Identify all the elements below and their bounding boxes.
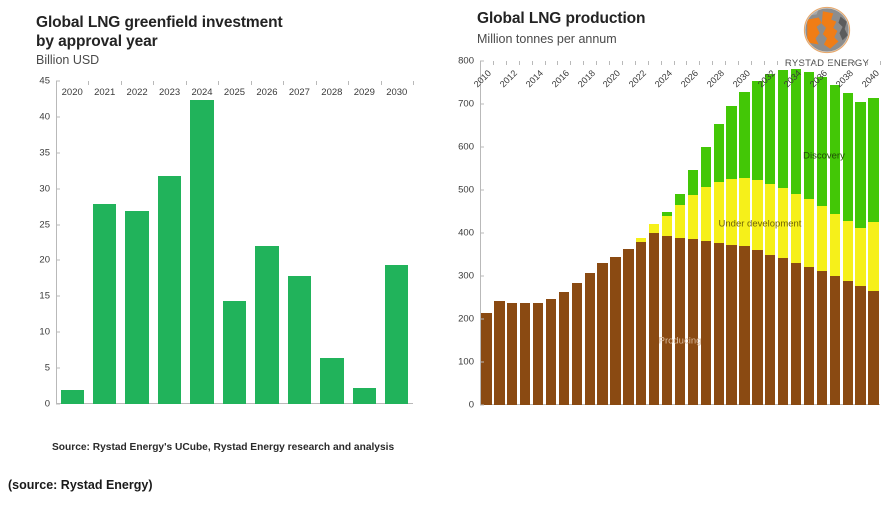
x-axis-tick-label: 2028 — [321, 87, 342, 98]
globe-icon — [801, 4, 853, 56]
x-axis-tick-label: 2021 — [94, 87, 115, 98]
x-axis-tick-mark — [751, 61, 752, 65]
x-axis-tick-mark — [674, 61, 675, 65]
left-chart-title: Global LNG greenfield investment by appr… — [36, 14, 366, 52]
x-axis-tick-label: 2025 — [224, 87, 245, 98]
segment-producing — [546, 299, 556, 405]
y-axis-tick-label: 25 — [39, 219, 56, 230]
x-axis-tick-mark — [712, 61, 713, 65]
segment-under-development — [739, 178, 749, 247]
segment-producing — [855, 286, 865, 405]
page-caption: (source: Rystad Energy) — [8, 478, 152, 492]
y-axis-tick-label: 35 — [39, 147, 56, 158]
x-axis-tick-mark — [803, 61, 804, 65]
segment-producing — [817, 271, 827, 405]
y-axis-tick-mark — [480, 405, 484, 406]
segment-under-development — [662, 216, 672, 237]
segment-discovery — [791, 69, 801, 194]
segment-under-development — [817, 206, 827, 271]
stacked-bar-2034[interactable] — [791, 61, 801, 405]
x-axis-tick-mark — [777, 61, 778, 65]
left-chart-panel: Global LNG greenfield investment by appr… — [0, 0, 455, 440]
segment-discovery — [714, 124, 724, 182]
segment-producing — [765, 255, 775, 406]
x-axis-tick-mark — [764, 61, 765, 65]
y-axis-tick-label: 45 — [39, 76, 56, 87]
y-axis-tick-label: 40 — [39, 111, 56, 122]
x-axis-tick-mark — [854, 61, 855, 65]
y-axis-tick-mark — [56, 296, 60, 297]
segment-producing — [739, 246, 749, 405]
bar-2023[interactable] — [158, 176, 181, 404]
stacked-bar-2020[interactable] — [610, 61, 620, 405]
x-axis-tick-mark — [153, 81, 154, 85]
x-axis-tick-mark — [316, 81, 317, 85]
right-plot-area: Producing Under development Discovery 01… — [480, 61, 880, 405]
segment-producing — [675, 238, 685, 405]
x-axis-tick-label: 2022 — [127, 87, 148, 98]
x-axis-tick-label: 2026 — [256, 87, 277, 98]
left-plot-area: 0510152025303540452020202120222023202420… — [56, 81, 413, 404]
segment-producing — [830, 276, 840, 405]
stacked-bar-2015[interactable] — [546, 61, 556, 405]
x-axis-tick-mark — [251, 81, 252, 85]
y-axis-tick-label: 10 — [39, 327, 56, 338]
segment-producing — [533, 303, 543, 405]
y-axis-tick-label: 200 — [458, 314, 480, 325]
stacked-bar-2036[interactable] — [817, 61, 827, 405]
segment-under-development — [636, 238, 646, 241]
y-axis-tick-label: 500 — [458, 185, 480, 196]
y-axis-tick-mark — [480, 362, 484, 363]
stacked-bar-2037[interactable] — [830, 61, 840, 405]
segment-under-development — [778, 188, 788, 258]
segment-discovery — [843, 93, 853, 220]
x-axis-tick-label: 2029 — [354, 87, 375, 98]
left-chart-subtitle: Billion USD — [36, 53, 99, 68]
segment-producing — [572, 283, 582, 405]
bar-2025[interactable] — [223, 301, 246, 404]
stacked-bar-2019[interactable] — [597, 61, 607, 405]
x-axis-tick-mark — [519, 61, 520, 65]
stacked-bar-2013[interactable] — [520, 61, 530, 405]
segment-under-development — [701, 187, 711, 241]
x-axis-tick-mark — [841, 61, 842, 65]
x-axis-tick-mark — [557, 61, 558, 65]
right-chart-panel: Global LNG production Million tonnes per… — [455, 0, 889, 450]
stacked-bar-2012[interactable] — [507, 61, 517, 405]
x-axis-tick-mark — [583, 61, 584, 65]
segment-producing — [520, 303, 530, 405]
segment-discovery — [752, 81, 762, 180]
y-axis-tick-label: 100 — [458, 357, 480, 368]
x-axis-tick-mark — [880, 61, 881, 65]
segment-discovery — [804, 72, 814, 199]
bar-2022[interactable] — [125, 211, 148, 404]
segment-under-development — [649, 224, 659, 233]
stacked-bar-2022[interactable] — [636, 61, 646, 405]
segment-under-development — [830, 214, 840, 276]
segment-under-development — [843, 221, 853, 281]
right-chart-subtitle: Million tonnes per annum — [477, 32, 617, 47]
segment-producing — [804, 267, 814, 405]
stacked-bar-2011[interactable] — [494, 61, 504, 405]
segment-discovery — [868, 98, 878, 222]
y-axis-tick-label: 0 — [45, 399, 56, 410]
rystad-energy-logo: RYSTAD ENERGY — [781, 4, 873, 69]
segment-under-development — [714, 182, 724, 243]
right-chart-title: Global LNG production — [477, 10, 645, 29]
y-axis-tick-mark — [56, 224, 60, 225]
segment-discovery — [830, 85, 840, 214]
x-axis-tick-mark — [635, 61, 636, 65]
y-axis-tick-label: 5 — [45, 363, 56, 374]
bar-2021[interactable] — [93, 204, 116, 404]
stacked-bar-2031[interactable] — [752, 61, 762, 405]
stacked-bar-2018[interactable] — [585, 61, 595, 405]
stacked-bar-2017[interactable] — [572, 61, 582, 405]
x-axis-tick-mark — [609, 61, 610, 65]
segment-producing — [623, 249, 633, 405]
x-axis-tick-mark — [815, 61, 816, 65]
segment-producing — [778, 258, 788, 405]
stacked-bar-2038[interactable] — [843, 61, 853, 405]
x-axis-tick-label: 2020 — [62, 87, 83, 98]
y-axis-tick-label: 0 — [469, 400, 480, 411]
left-bar-group — [56, 81, 413, 404]
segment-producing — [585, 273, 595, 405]
segment-producing — [726, 245, 736, 405]
stacked-bar-2014[interactable] — [533, 61, 543, 405]
segment-producing — [636, 242, 646, 405]
y-axis-tick-label: 15 — [39, 291, 56, 302]
x-axis-tick-mark — [56, 81, 57, 85]
segment-producing — [868, 291, 878, 405]
bar-2027[interactable] — [288, 276, 311, 404]
segment-under-development — [868, 222, 878, 291]
x-axis-tick-label: 2030 — [386, 87, 407, 98]
bar-2030[interactable] — [385, 265, 408, 404]
x-axis-tick-mark — [867, 61, 868, 65]
stacked-bar-2023[interactable] — [649, 61, 659, 405]
y-axis-tick-label: 300 — [458, 271, 480, 282]
x-axis-tick-mark — [790, 61, 791, 65]
bar-2026[interactable] — [255, 246, 278, 404]
x-axis-tick-label: 2024 — [191, 87, 212, 98]
stacked-bar-2029[interactable] — [726, 61, 736, 405]
segment-producing — [714, 243, 724, 405]
segment-discovery — [739, 92, 749, 178]
source-note: Source: Rystad Energy's UCube, Rystad En… — [52, 442, 394, 453]
x-axis-tick-mark — [686, 61, 687, 65]
x-axis-tick-mark — [532, 61, 533, 65]
y-axis-tick-label: 800 — [458, 56, 480, 67]
segment-producing — [597, 263, 607, 405]
segment-under-development — [791, 194, 801, 263]
y-axis-tick-mark — [480, 276, 484, 277]
x-axis-tick-mark — [738, 61, 739, 65]
x-axis-tick-label: 2023 — [159, 87, 180, 98]
x-axis-tick-mark — [648, 61, 649, 65]
y-axis-tick-mark — [480, 319, 484, 320]
x-axis-tick-mark — [480, 61, 481, 65]
segment-discovery — [701, 147, 711, 188]
stacked-bar-2030[interactable] — [739, 61, 749, 405]
x-axis-tick-mark — [545, 61, 546, 65]
x-axis-tick-mark — [283, 81, 284, 85]
segment-producing — [649, 233, 659, 405]
x-axis-tick-label: 2027 — [289, 87, 310, 98]
segment-under-development — [752, 180, 762, 250]
stacked-bar-2016[interactable] — [559, 61, 569, 405]
stacked-bar-2021[interactable] — [623, 61, 633, 405]
segment-under-development — [765, 184, 775, 255]
x-axis-tick-mark — [725, 61, 726, 65]
x-axis-tick-mark — [493, 61, 494, 65]
y-axis-tick-label: 30 — [39, 183, 56, 194]
stacked-bar-2025[interactable] — [675, 61, 685, 405]
stacked-bar-2033[interactable] — [778, 61, 788, 405]
segment-discovery — [688, 170, 698, 195]
y-axis-tick-label: 600 — [458, 142, 480, 153]
bar-2020[interactable] — [61, 390, 84, 404]
chart-page: Global LNG greenfield investment by appr… — [0, 0, 889, 505]
segment-under-development — [855, 228, 865, 286]
segment-producing — [662, 236, 672, 405]
segment-producing — [481, 313, 491, 405]
x-axis-tick-mark — [699, 61, 700, 65]
bar-2024[interactable] — [190, 100, 213, 404]
right-bar-group — [480, 61, 880, 405]
stacked-bar-2024[interactable] — [662, 61, 672, 405]
segment-discovery — [662, 212, 672, 215]
stacked-bar-2040[interactable] — [868, 61, 878, 405]
segment-producing — [507, 303, 517, 405]
y-axis-tick-mark — [56, 332, 60, 333]
x-axis-tick-mark — [661, 61, 662, 65]
stacked-bar-2032[interactable] — [765, 61, 775, 405]
segment-under-development — [688, 195, 698, 239]
segment-discovery — [726, 106, 736, 179]
segment-discovery — [855, 102, 865, 228]
x-axis-tick-mark — [828, 61, 829, 65]
x-axis-tick-mark — [570, 61, 571, 65]
segment-producing — [791, 263, 801, 405]
y-axis-tick-mark — [56, 260, 60, 261]
segment-discovery — [765, 74, 775, 184]
stacked-bar-2028[interactable] — [714, 61, 724, 405]
x-axis-tick-mark — [218, 81, 219, 85]
y-axis-tick-mark — [480, 233, 484, 234]
segment-producing — [701, 241, 711, 405]
x-axis-tick-mark — [186, 81, 187, 85]
segment-discovery — [817, 77, 827, 206]
y-axis-tick-mark — [56, 116, 60, 117]
bar-2028[interactable] — [320, 358, 343, 404]
x-axis-tick-mark — [348, 81, 349, 85]
stacked-bar-2027[interactable] — [701, 61, 711, 405]
y-axis-tick-mark — [56, 188, 60, 189]
x-axis-tick-mark — [88, 81, 89, 85]
x-axis-tick-mark — [381, 81, 382, 85]
segment-under-development — [804, 199, 814, 266]
y-axis-tick-mark — [480, 104, 484, 105]
stacked-bar-2039[interactable] — [855, 61, 865, 405]
stacked-bar-2035[interactable] — [804, 61, 814, 405]
x-axis-tick-mark — [121, 81, 122, 85]
x-axis-tick-mark — [413, 81, 414, 85]
bar-2029[interactable] — [353, 388, 376, 404]
segment-discovery — [675, 194, 685, 205]
segment-under-development — [675, 205, 685, 239]
segment-producing — [494, 301, 504, 405]
segment-producing — [843, 281, 853, 405]
x-axis-tick-mark — [596, 61, 597, 65]
y-axis-tick-label: 20 — [39, 255, 56, 266]
x-axis-tick-mark — [622, 61, 623, 65]
segment-producing — [559, 292, 569, 405]
segment-producing — [610, 257, 620, 405]
y-axis-tick-label: 400 — [458, 228, 480, 239]
y-axis-tick-mark — [56, 404, 60, 405]
y-axis-tick-mark — [480, 190, 484, 191]
segment-producing — [752, 250, 762, 405]
y-axis-tick-mark — [56, 368, 60, 369]
y-axis-tick-label: 700 — [458, 99, 480, 110]
segment-producing — [688, 239, 698, 405]
segment-under-development — [726, 179, 736, 244]
y-axis-tick-mark — [56, 152, 60, 153]
stacked-bar-2026[interactable] — [688, 61, 698, 405]
x-axis-tick-mark — [506, 61, 507, 65]
y-axis-tick-mark — [480, 147, 484, 148]
